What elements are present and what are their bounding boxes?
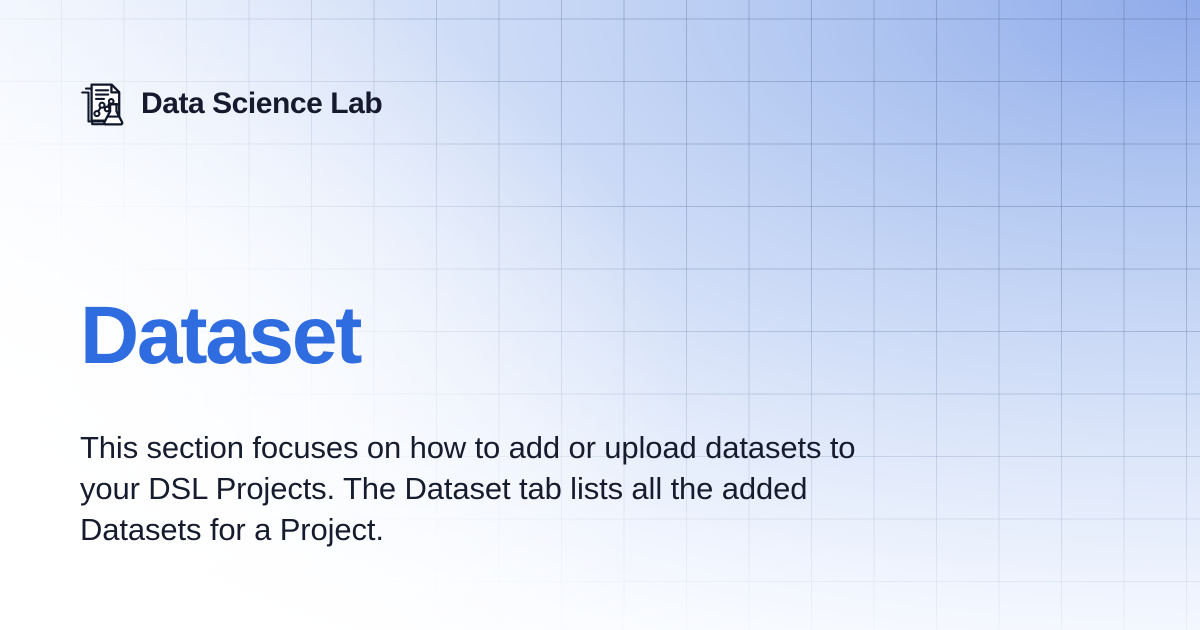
page-title: Dataset <box>80 294 360 378</box>
brand-lockup: Data Science Lab <box>78 80 382 128</box>
brand-name: Data Science Lab <box>141 89 382 119</box>
page-description: This section focuses on how to add or up… <box>80 427 880 551</box>
banner-canvas: Data Science Lab Dataset This section fo… <box>0 0 1200 630</box>
banner-content: Data Science Lab Dataset This section fo… <box>0 0 1200 630</box>
data-document-flask-icon <box>78 80 126 128</box>
